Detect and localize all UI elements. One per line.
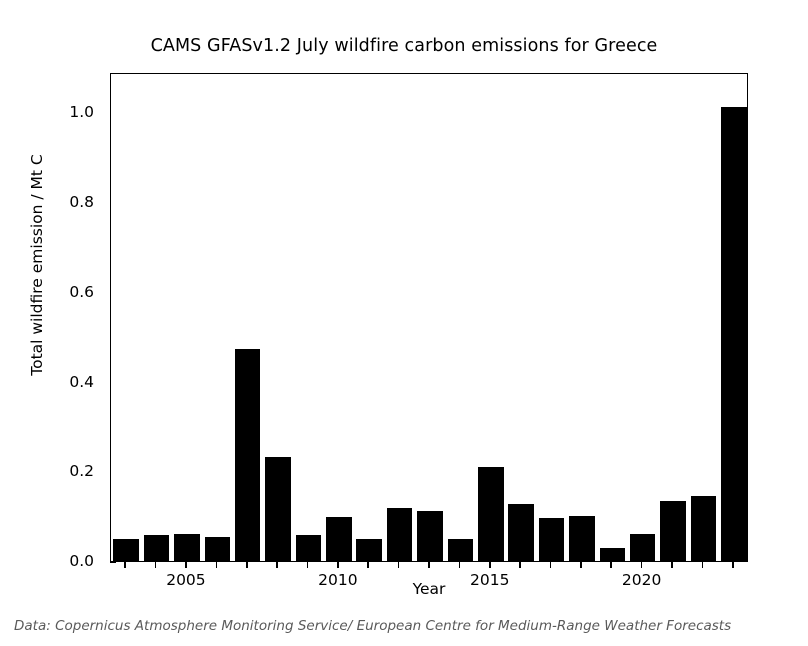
y-axis-label: Total wildfire emission / Mt C [28,35,46,495]
chart-title: CAMS GFASv1.2 July wildfire carbon emiss… [0,36,808,56]
y-tick-label: 0.2 [69,462,94,480]
bar [508,504,534,561]
y-tick-label: 0.4 [69,373,94,391]
x-tick-mark [276,562,278,568]
x-tick-mark [337,562,339,568]
bar [265,457,291,561]
x-tick-mark [732,562,734,568]
bar [691,496,717,561]
x-tick-mark [216,562,218,568]
bar [539,518,565,561]
x-tick-mark [519,562,521,568]
bar [205,537,231,561]
bar [660,501,686,561]
y-tick-label: 0.0 [69,552,94,570]
footer-note: Data: Copernicus Atmosphere Monitoring S… [14,618,731,634]
x-tick-mark [489,562,491,568]
y-tick-label: 0.8 [69,193,94,211]
bar [296,535,322,561]
bar [478,467,504,561]
bar [387,508,413,561]
x-tick-mark [428,562,430,568]
x-tick-mark [124,562,126,568]
bar [600,548,626,561]
x-tick-mark [580,562,582,568]
bar [113,539,139,561]
x-tick-mark [459,562,461,568]
bar [326,517,352,561]
x-tick-mark [671,562,673,568]
bar [144,535,170,561]
bar [448,539,474,561]
bar [569,516,595,561]
y-tick-label: 0.6 [69,283,94,301]
bars-layer [111,74,747,561]
bar [356,539,382,561]
x-tick-mark [610,562,612,568]
x-axis-label: Year [110,580,748,598]
x-tick-mark [367,562,369,568]
x-tick-mark [185,562,187,568]
y-tick-label: 1.0 [69,103,94,121]
bar [174,534,200,561]
plot-area [110,73,748,562]
x-tick-mark [398,562,400,568]
chart-figure: CAMS GFASv1.2 July wildfire carbon emiss… [0,0,808,646]
x-tick-mark [307,562,309,568]
bar [235,349,261,561]
bar [721,107,747,561]
x-tick-mark [641,562,643,568]
x-tick-mark [155,562,157,568]
x-tick-mark [246,562,248,568]
bar [417,511,443,561]
x-tick-mark [550,562,552,568]
bar [630,534,656,561]
x-tick-mark [702,562,704,568]
